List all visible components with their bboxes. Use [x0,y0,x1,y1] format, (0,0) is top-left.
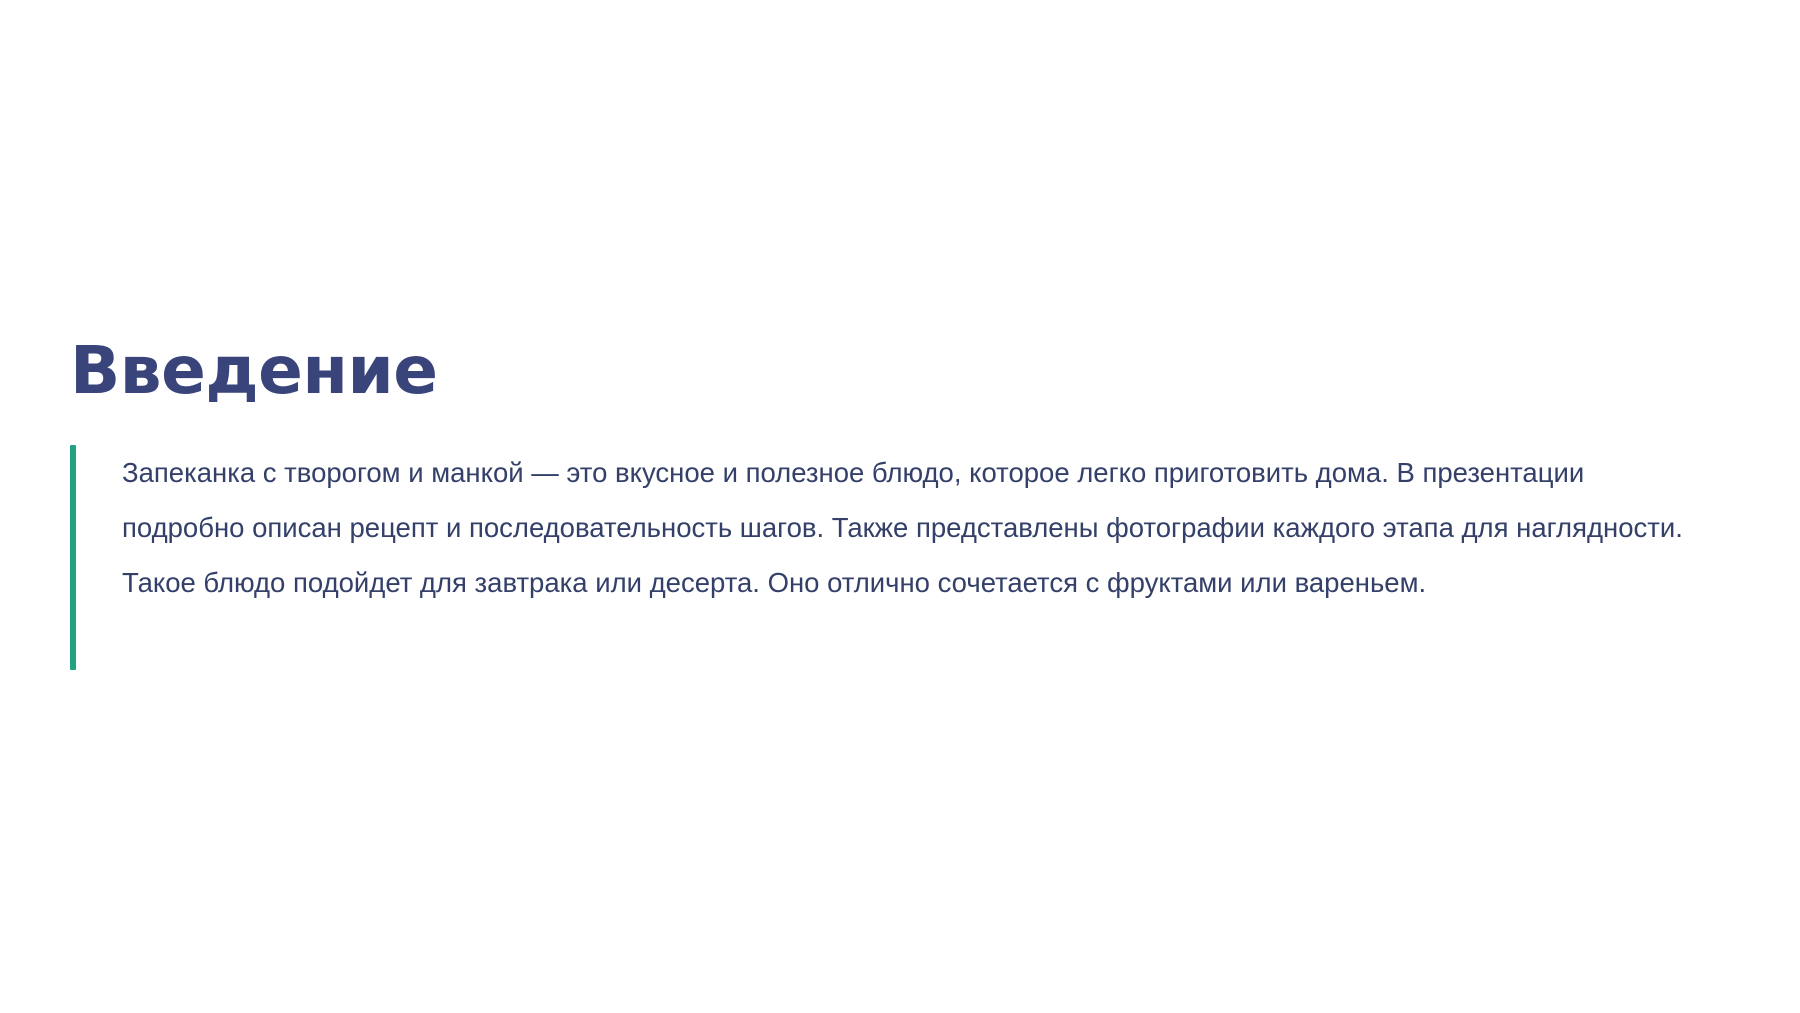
slide-root: Введение Запеканка с творогом и манкой —… [0,0,1800,1013]
intro-block: Запеканка с творогом и манкой — это вкус… [70,445,1730,670]
intro-paragraph: Запеканка с творогом и манкой — это вкус… [76,445,1712,670]
page-title: Введение [70,336,438,405]
